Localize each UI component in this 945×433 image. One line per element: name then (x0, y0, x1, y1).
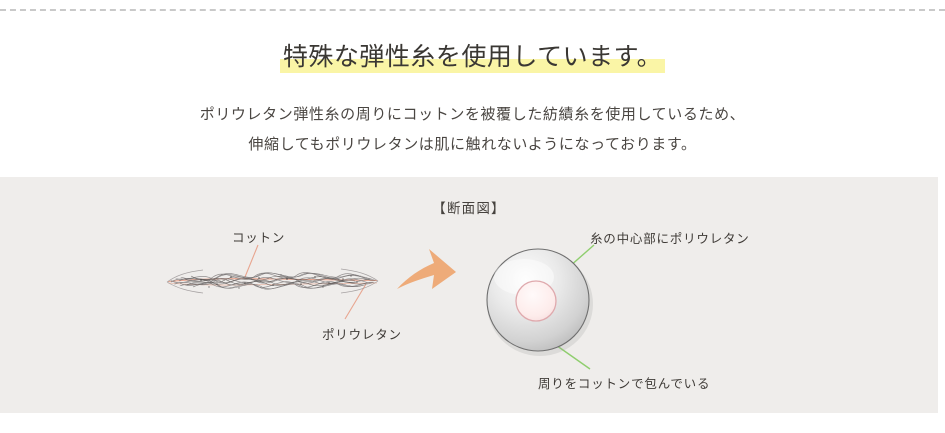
page-title: 特殊な弾性糸を使用しています。 (280, 42, 665, 74)
label-cotton: コットン (232, 227, 285, 246)
label-core-polyurethane: 糸の中心部にポリウレタン (590, 228, 750, 247)
top-dashed-divider (0, 9, 945, 11)
page-title-text: 特殊な弾性糸を使用しています。 (283, 44, 662, 71)
lead-line-2: 伸縮してもポリウレタンは肌に触れないようになっております。 (0, 130, 945, 160)
transform-arrow-icon (396, 245, 466, 297)
yarn-cross-section-illustration (482, 243, 598, 359)
lead-paragraph: ポリウレタン弾性糸の周りにコットンを被覆した紡績糸を使用しているため、 伸縮して… (0, 100, 945, 160)
lead-line-1: ポリウレタン弾性糸の周りにコットンを被覆した紡績糸を使用しているため、 (0, 100, 945, 130)
label-cotton-wrap: 周りをコットンで包んでいる (538, 373, 710, 392)
polyurethane-core (516, 281, 556, 321)
leader-lines-overlay (0, 177, 938, 413)
yarn-fiber-bundle-illustration (165, 255, 380, 305)
page-title-container: 特殊な弾性糸を使用しています。 (0, 42, 945, 74)
label-polyurethane-left: ポリウレタン (322, 324, 402, 343)
cross-section-diagram-panel: 【断面図】 (0, 177, 938, 413)
